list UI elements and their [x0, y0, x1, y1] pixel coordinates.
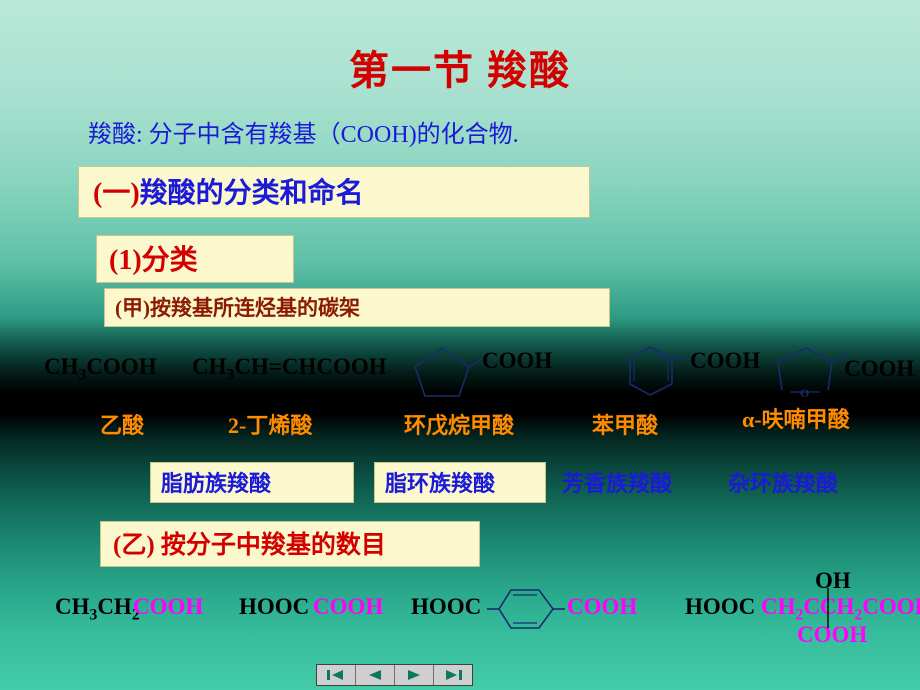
category-aliphatic: 脂肪族羧酸 — [150, 462, 354, 503]
formula-citric-cooh-bottom: COOH — [797, 622, 867, 648]
formula-terephthalic-black: HOOC — [411, 594, 481, 620]
category-heterocyclic: 杂环族羧酸 — [728, 466, 838, 498]
category-alicyclic: 脂环族羧酸 — [374, 462, 546, 503]
formula-acetic-acid: CH3COOH — [44, 354, 157, 385]
navigation-bar[interactable] — [316, 664, 473, 686]
formula-citric-oh: OH — [815, 568, 851, 594]
formula-citric-black: HOOC — [685, 594, 755, 620]
nav-first-button[interactable] — [317, 665, 356, 685]
structure-row-2: CH3CH2 COOH HOOC COOH HOOC COOH HOOC CH2… — [55, 578, 905, 648]
nav-last-button[interactable] — [434, 665, 472, 685]
label-2-butenoic-acid: 2-丁烯酸 — [228, 408, 312, 440]
nav-previous-button[interactable] — [356, 665, 395, 685]
section-header-text: 羧酸的分类和命名 — [140, 178, 364, 209]
subsection-1-box: (1)分类 — [96, 235, 294, 283]
structure-row-1: CH3COOH CH3CH=CHCOOH COOH COOH O COOH — [44, 342, 904, 402]
definition-line: 羧酸: 分子中含有羧基（COOH)的化合物. — [88, 114, 519, 149]
first-icon — [325, 669, 347, 681]
page-title: 第一节 羧酸 — [0, 38, 920, 96]
formula-citric-ch2-c-ch2-cooh: CH2CCH2COOH — [761, 594, 920, 625]
benzene-ring-para-icon — [487, 584, 565, 634]
definition-formula: COOH — [341, 122, 409, 148]
slide-canvas: 第一节 羧酸 羧酸: 分子中含有羧基（COOH)的化合物. (一)羧酸的分类和命… — [0, 0, 920, 690]
criterion-jia-box: (甲)按羧基所连烃基的碳架 — [104, 288, 610, 327]
formula-terephthalic-cooh: COOH — [567, 594, 637, 620]
label-cyclopentanecarboxylic-acid: 环戊烷甲酸 — [404, 408, 514, 440]
nav-next-button[interactable] — [395, 665, 434, 685]
formula-propanoic-black: CH3CH2 — [55, 594, 140, 625]
furan-ring-icon: O — [774, 342, 850, 400]
section-header-paren: (一) — [93, 178, 140, 209]
formula-2-butenoic-acid: CH3CH=CHCOOH — [192, 354, 387, 385]
definition-prefix: 羧酸: 分子中含有羧基（ — [88, 122, 341, 148]
category-aromatic: 芳香族羧酸 — [562, 466, 672, 498]
formula-propanoic-cooh: COOH — [133, 594, 203, 620]
criterion-yi-box: (乙) 按分子中羧基的数目 — [100, 521, 480, 567]
label-acetic-acid: 乙酸 — [100, 408, 144, 440]
formula-cyclopentanecarboxylic-cooh: COOH — [482, 348, 552, 374]
formula-oxalic-cooh: COOH — [313, 594, 383, 620]
last-icon — [442, 669, 464, 681]
label-benzoic-acid: 苯甲酸 — [592, 408, 658, 440]
prev-icon — [364, 669, 386, 681]
formula-oxalic-black: HOOC — [239, 594, 309, 620]
next-icon — [403, 669, 425, 681]
formula-furoic-cooh: COOH — [844, 356, 914, 382]
definition-suffix: )的化合物. — [409, 122, 519, 148]
section-header-box: (一)羧酸的分类和命名 — [78, 166, 590, 218]
formula-benzoic-cooh: COOH — [690, 348, 760, 374]
label-alpha-furoic-acid: α-呋喃甲酸 — [742, 402, 850, 434]
benzene-ring-icon — [628, 344, 692, 400]
svg-text:O: O — [800, 386, 809, 400]
cyclopentane-ring-icon — [412, 344, 484, 400]
